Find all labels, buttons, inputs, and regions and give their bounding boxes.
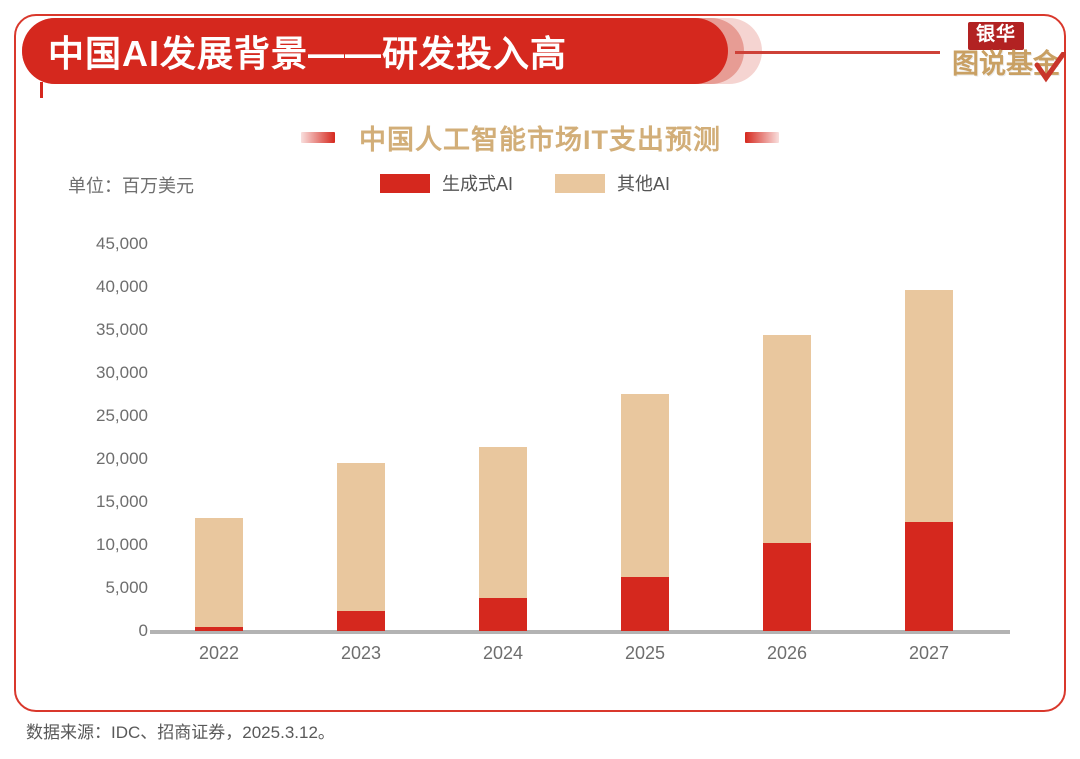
legend-label: 其他AI xyxy=(617,170,670,196)
title-dash-right-icon xyxy=(745,132,779,143)
page-title: 中国AI发展背景——研发投入高 xyxy=(22,25,567,77)
header-pill: 中国AI发展背景——研发投入高 xyxy=(22,18,728,84)
poster-root: 中国AI发展背景——研发投入高 银华 图说基金 中国人工智能市场IT支出预测 单… xyxy=(0,0,1080,759)
chart-legend: 生成式AI其他AI xyxy=(380,170,670,196)
source-note: 数据来源：IDC、招商证券，2025.3.12。 xyxy=(26,718,335,743)
legend-item-1[interactable]: 生成式AI xyxy=(380,170,513,196)
header-accent-rule xyxy=(735,51,940,54)
chart-title-row: 中国人工智能市场IT支出预测 xyxy=(0,118,1080,157)
legend-label: 生成式AI xyxy=(442,170,513,196)
title-dash-left-icon xyxy=(301,132,335,143)
chart-title: 中国人工智能市场IT支出预测 xyxy=(359,118,721,157)
legend-item-2[interactable]: 其他AI xyxy=(555,170,670,196)
brand-logo: 银华 图说基金 xyxy=(952,22,1064,96)
unit-label: 单位：百万美元 xyxy=(68,172,194,198)
legend-swatch-icon xyxy=(380,174,430,193)
legend-swatch-icon xyxy=(555,174,605,193)
brand-tick-mark xyxy=(40,82,43,98)
check-icon xyxy=(1034,52,1066,86)
brand-badge: 银华 xyxy=(968,22,1024,50)
